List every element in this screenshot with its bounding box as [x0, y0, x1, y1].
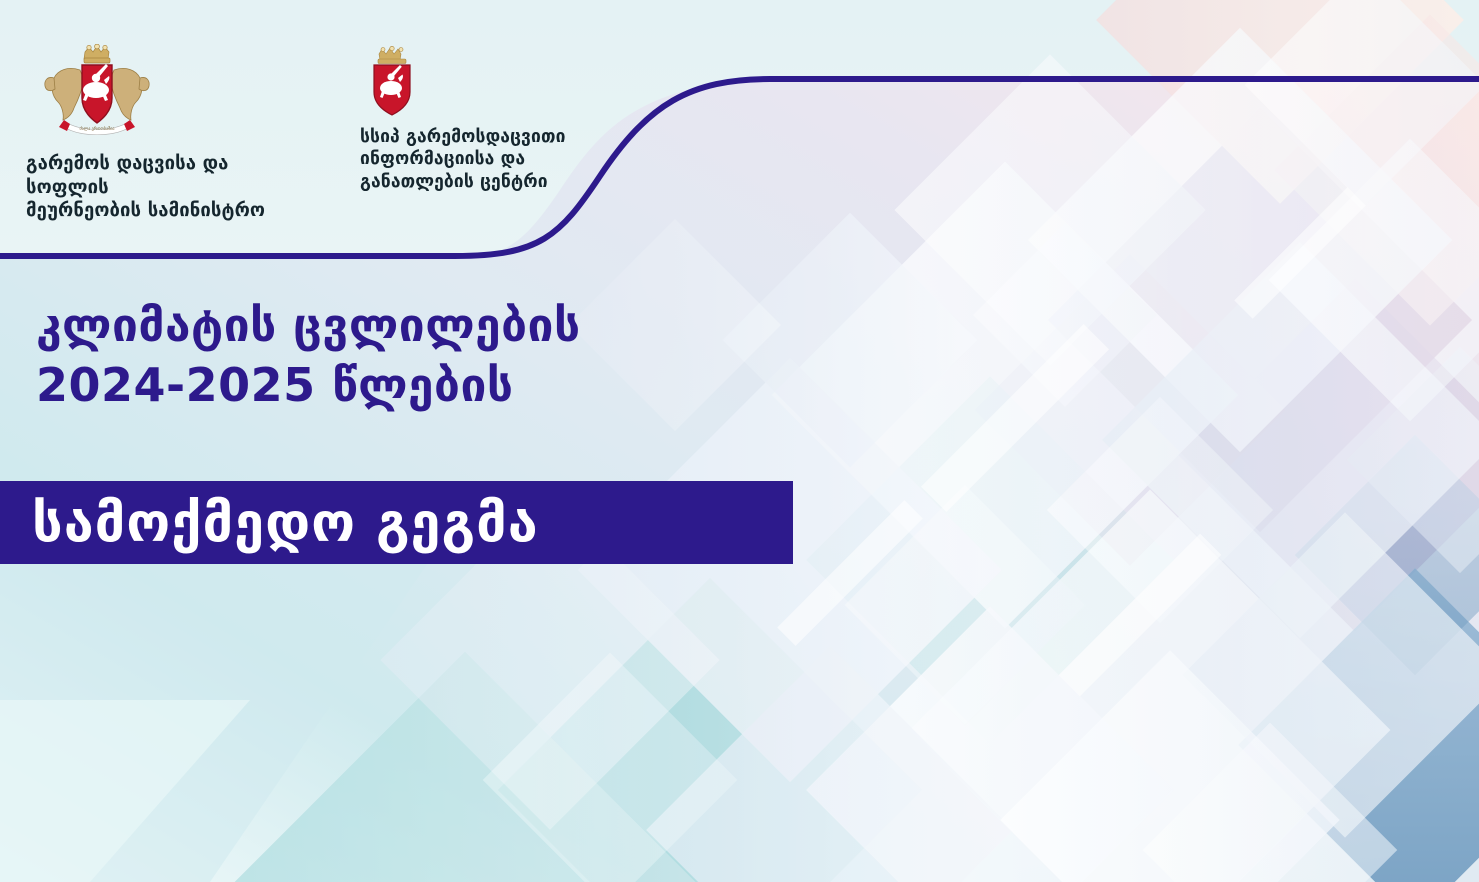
eiec-logo-block: სსიპ გარემოსდაცვითი ინფორმაციისა და განა…	[360, 44, 610, 193]
title-line-2: 2024-2025 წლების	[36, 356, 936, 416]
ministry-name-line-2: მეურნეობის სამინისტრო	[26, 199, 316, 223]
eiec-name: სსიპ გარემოსდაცვითი ინფორმაციისა და განა…	[360, 126, 566, 193]
title-line-1: კლიმატის ცვლილების	[36, 296, 936, 356]
report-cover: ძალა ერთობაშია გარემოს დაცვისა და სოფლის…	[0, 0, 1479, 882]
ministry-logo-block: ძალა ერთობაშია გარემოს დაცვისა და სოფლის…	[26, 44, 316, 223]
logo-row: ძალა ერთობაშია გარემოს დაცვისა და სოფლის…	[0, 0, 610, 223]
ministry-name-line-1: გარემოს დაცვისა და სოფლის	[26, 152, 316, 199]
subtitle-bar: სამოქმედო გეგმა	[0, 481, 793, 564]
eiec-name-line-2: ინფორმაციისა და	[360, 148, 566, 170]
georgia-coat-of-arms-icon: ძალა ერთობაშია	[38, 44, 156, 140]
ministry-name: გარემოს დაცვისა და სოფლის მეურნეობის სამ…	[26, 152, 316, 223]
subtitle-text: სამოქმედო გეგმა	[32, 496, 539, 550]
page-title: კლიმატის ცვლილების 2024-2025 წლების	[36, 296, 936, 416]
eiec-name-line-1: სსიპ გარემოსდაცვითი	[360, 126, 566, 148]
eiec-shield-icon	[364, 44, 420, 116]
svg-text:ძალა ერთობაშია: ძალა ერთობაშია	[79, 126, 114, 131]
eiec-name-line-3: განათლების ცენტრი	[360, 171, 566, 193]
